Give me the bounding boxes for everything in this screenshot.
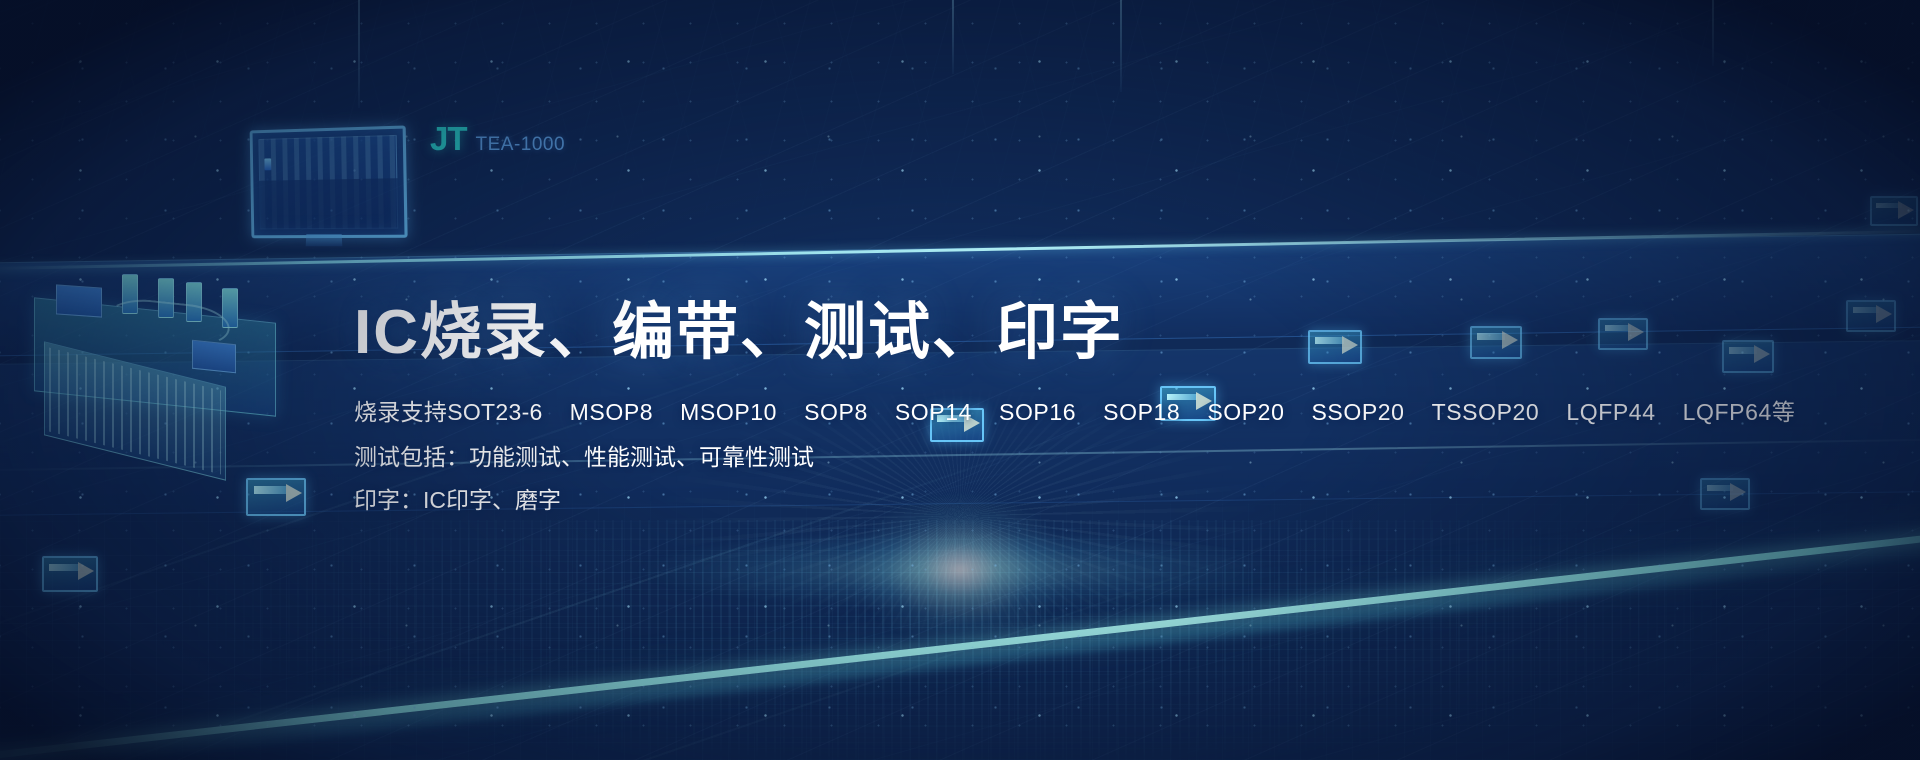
monitor-stand <box>306 234 343 246</box>
package-chip-sop20: SOP20 <box>1207 401 1284 424</box>
packages-line: 烧录支持SOT23-6 MSOP8 MSOP10 SOP8 SOP14 SOP1… <box>354 401 1694 424</box>
brand-logo-text: JT <box>430 122 467 155</box>
packages-lead-label: 烧录支持SOT23-6 <box>354 401 543 424</box>
monitor-indicator-icon <box>264 158 271 170</box>
strut-pole-1 <box>358 0 360 108</box>
industrial-machine-graphic <box>10 268 300 468</box>
testing-line: 测试包括：功能测试、性能测试、可靠性测试 <box>354 446 1694 469</box>
ic-chip-icon <box>1700 478 1750 510</box>
ic-chip-icon <box>1870 196 1918 226</box>
ic-chip-icon <box>1846 300 1896 332</box>
ic-chip-icon <box>42 556 98 592</box>
package-chip-tssop20: TSSOP20 <box>1432 401 1540 424</box>
strut-pole-4 <box>1712 0 1714 66</box>
package-chip-msop8: MSOP8 <box>570 401 654 424</box>
banner-copy: IC烧录、编带、测试、印字 烧录支持SOT23-6 MSOP8 MSOP10 S… <box>354 298 1694 512</box>
package-chip-lqfp44: LQFP44 <box>1566 401 1655 424</box>
monitor-display <box>250 125 408 238</box>
package-chip-sop14: SOP14 <box>895 401 972 424</box>
banner-root: JT TEA-1000 IC烧录、编带、测试、印字 烧录支持SOT23-6 MS… <box>0 0 1920 760</box>
package-chip-sop8: SOP8 <box>804 401 868 424</box>
package-chip-ssop20: SSOP20 <box>1311 401 1404 424</box>
ic-chip-icon <box>246 478 306 516</box>
brand-logo: JT TEA-1000 <box>430 122 565 155</box>
strut-pole-2 <box>952 0 954 74</box>
machine-control-box <box>56 284 102 317</box>
package-chip-msop10: MSOP10 <box>680 401 777 424</box>
package-chip-sop18: SOP18 <box>1103 401 1180 424</box>
brand-model-text: TEA-1000 <box>476 135 566 154</box>
strut-pole-3 <box>1120 0 1122 92</box>
page-title: IC烧录、编带、测试、印字 <box>354 298 1694 367</box>
marking-line: 印字：IC印字、磨字 <box>354 489 1694 512</box>
package-chip-sop16: SOP16 <box>999 401 1076 424</box>
ic-chip-icon <box>1722 340 1774 373</box>
monitor-screen-content <box>258 135 398 229</box>
package-chip-lqfp64: LQFP64等 <box>1683 401 1796 424</box>
